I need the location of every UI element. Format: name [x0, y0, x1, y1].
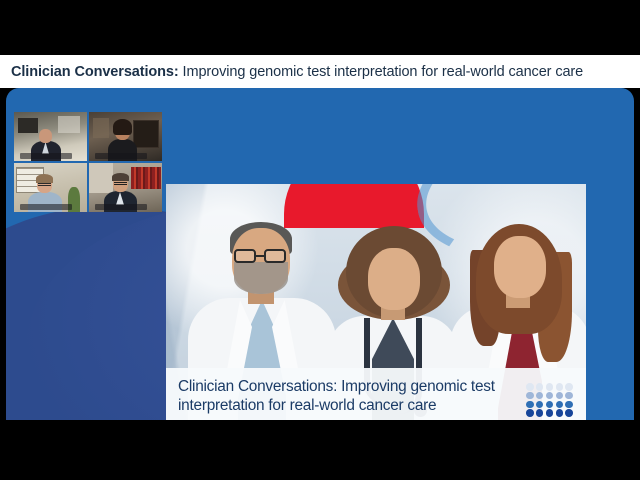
glasses-icon	[234, 249, 256, 263]
shared-slide[interactable]: Clinician Conversations: Improving genom…	[166, 184, 586, 420]
qiagen-logo-dot	[536, 409, 544, 417]
qiagen-logo-dot	[526, 392, 534, 400]
tile-bookshelf-decor	[131, 167, 161, 189]
page-title-rest: Improving genomic test interpretation fo…	[179, 64, 584, 80]
qiagen-logo-dot	[546, 401, 554, 409]
head	[494, 236, 546, 298]
tile-window-decor	[18, 118, 38, 133]
participant-tile-grid	[14, 112, 162, 212]
participant-name-label	[20, 204, 72, 210]
participant-tile[interactable]	[89, 163, 162, 212]
participant-hair	[36, 174, 53, 183]
qiagen-logo-dot	[526, 383, 534, 391]
qiagen-logo-dot	[546, 409, 554, 417]
participant-name-label	[95, 153, 147, 159]
participant-name-label	[20, 153, 72, 159]
letterbox-bottom	[0, 420, 640, 480]
glasses-icon	[264, 249, 286, 263]
qiagen-logo-dot	[565, 409, 573, 417]
slide-title: Clinician Conversations: Improving genom…	[178, 378, 553, 415]
participant-name-label	[95, 204, 147, 210]
qiagen-logo-dot	[536, 383, 544, 391]
qiagen-logo-dot	[556, 392, 564, 400]
participant-head	[39, 129, 52, 143]
participant-tile[interactable]	[89, 112, 162, 161]
qiagen-logo-dot	[546, 383, 554, 391]
qiagen-dot-matrix-icon	[526, 383, 574, 417]
qiagen-logo-dot	[565, 383, 573, 391]
tile-lamp-decor	[93, 118, 109, 138]
qiagen-logo-dot	[526, 409, 534, 417]
qiagen-logo-dot	[526, 401, 534, 409]
glasses-bridge	[256, 255, 264, 257]
participant-glasses	[38, 183, 51, 186]
qiagen-wordmark: QIAGEN	[522, 418, 578, 420]
participant-tile[interactable]	[14, 163, 87, 212]
qiagen-logo-dot	[536, 392, 544, 400]
qiagen-logo: QIAGEN	[522, 383, 578, 420]
qiagen-logo-dot	[556, 383, 564, 391]
qiagen-logo-dot	[556, 409, 564, 417]
slide-title-card: Clinician Conversations: Improving genom…	[166, 368, 586, 420]
header-bar: Clinician Conversations: Improving genom…	[0, 55, 640, 88]
participant-hair	[113, 119, 132, 135]
participant-hair	[112, 173, 129, 181]
head	[368, 248, 420, 310]
page-title: Clinician Conversations: Improving genom…	[0, 64, 583, 80]
qiagen-logo-dot	[565, 392, 573, 400]
qiagen-logo-dot	[556, 401, 564, 409]
slide-title-card-inner: Clinician Conversations: Improving genom…	[178, 378, 553, 420]
qiagen-logo-dot	[536, 401, 544, 409]
webinar-panel: Clinician Conversations: Improving genom…	[6, 88, 634, 420]
tile-wall-decor	[89, 163, 113, 193]
participant-glasses	[114, 182, 127, 185]
qiagen-logo-dot	[546, 392, 554, 400]
qiagen-logo-dot	[565, 401, 573, 409]
letterbox-top	[0, 0, 640, 55]
participant-tile[interactable]	[14, 112, 87, 161]
tile-window-decor	[58, 116, 80, 133]
tile-shelf-decor	[133, 120, 159, 148]
page-title-prefix: Clinician Conversations:	[11, 64, 179, 80]
beard	[234, 262, 288, 294]
screen: Clinician Conversations: Improving genom…	[0, 0, 640, 480]
